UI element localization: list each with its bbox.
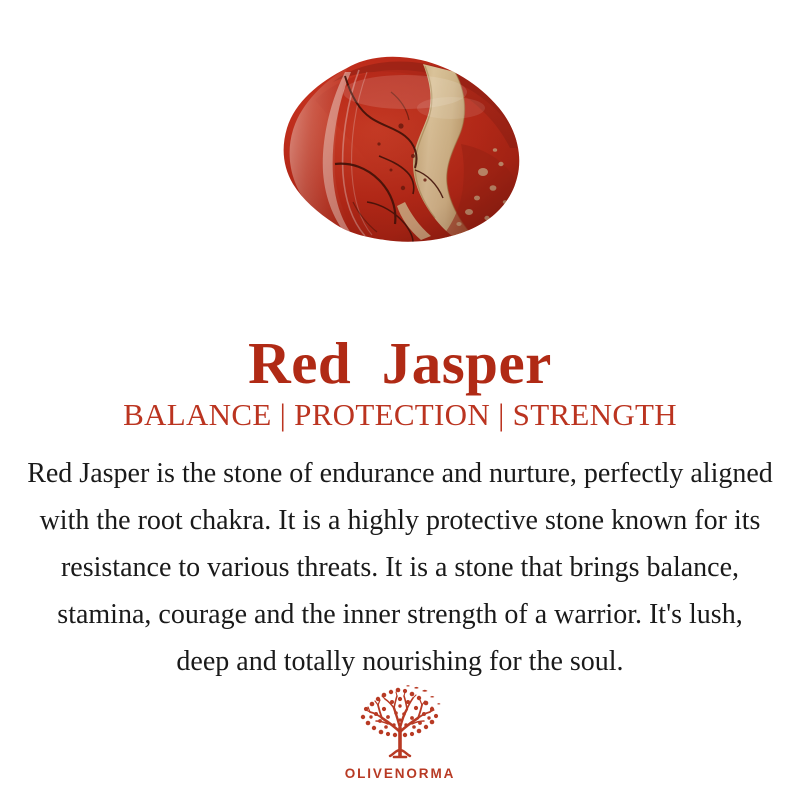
description-line: deep and totally nourishing for the soul… [10, 638, 790, 685]
description-line: with the root chakra. It is a highly pro… [10, 497, 790, 544]
description-line: resistance to various threats. It is a s… [10, 544, 790, 591]
product-info-card: Red Jasper BALANCE | PROTECTION | STRENG… [0, 0, 800, 800]
product-image [0, 52, 800, 252]
page-title: Red Jasper [0, 332, 800, 394]
description-text: Red Jasper is the stone of endurance and… [10, 450, 790, 685]
description-line: Red Jasper is the stone of endurance and… [10, 450, 790, 497]
tree-of-life-icon [354, 684, 446, 764]
brand-logo: OLIVENORMA [0, 684, 800, 781]
keywords-subtitle: BALANCE | PROTECTION | STRENGTH [0, 397, 800, 433]
brand-wordmark: OLIVENORMA [345, 766, 456, 781]
description-line: stamina, courage and the inner strength … [10, 591, 790, 638]
red-jasper-stone-icon [255, 52, 545, 252]
